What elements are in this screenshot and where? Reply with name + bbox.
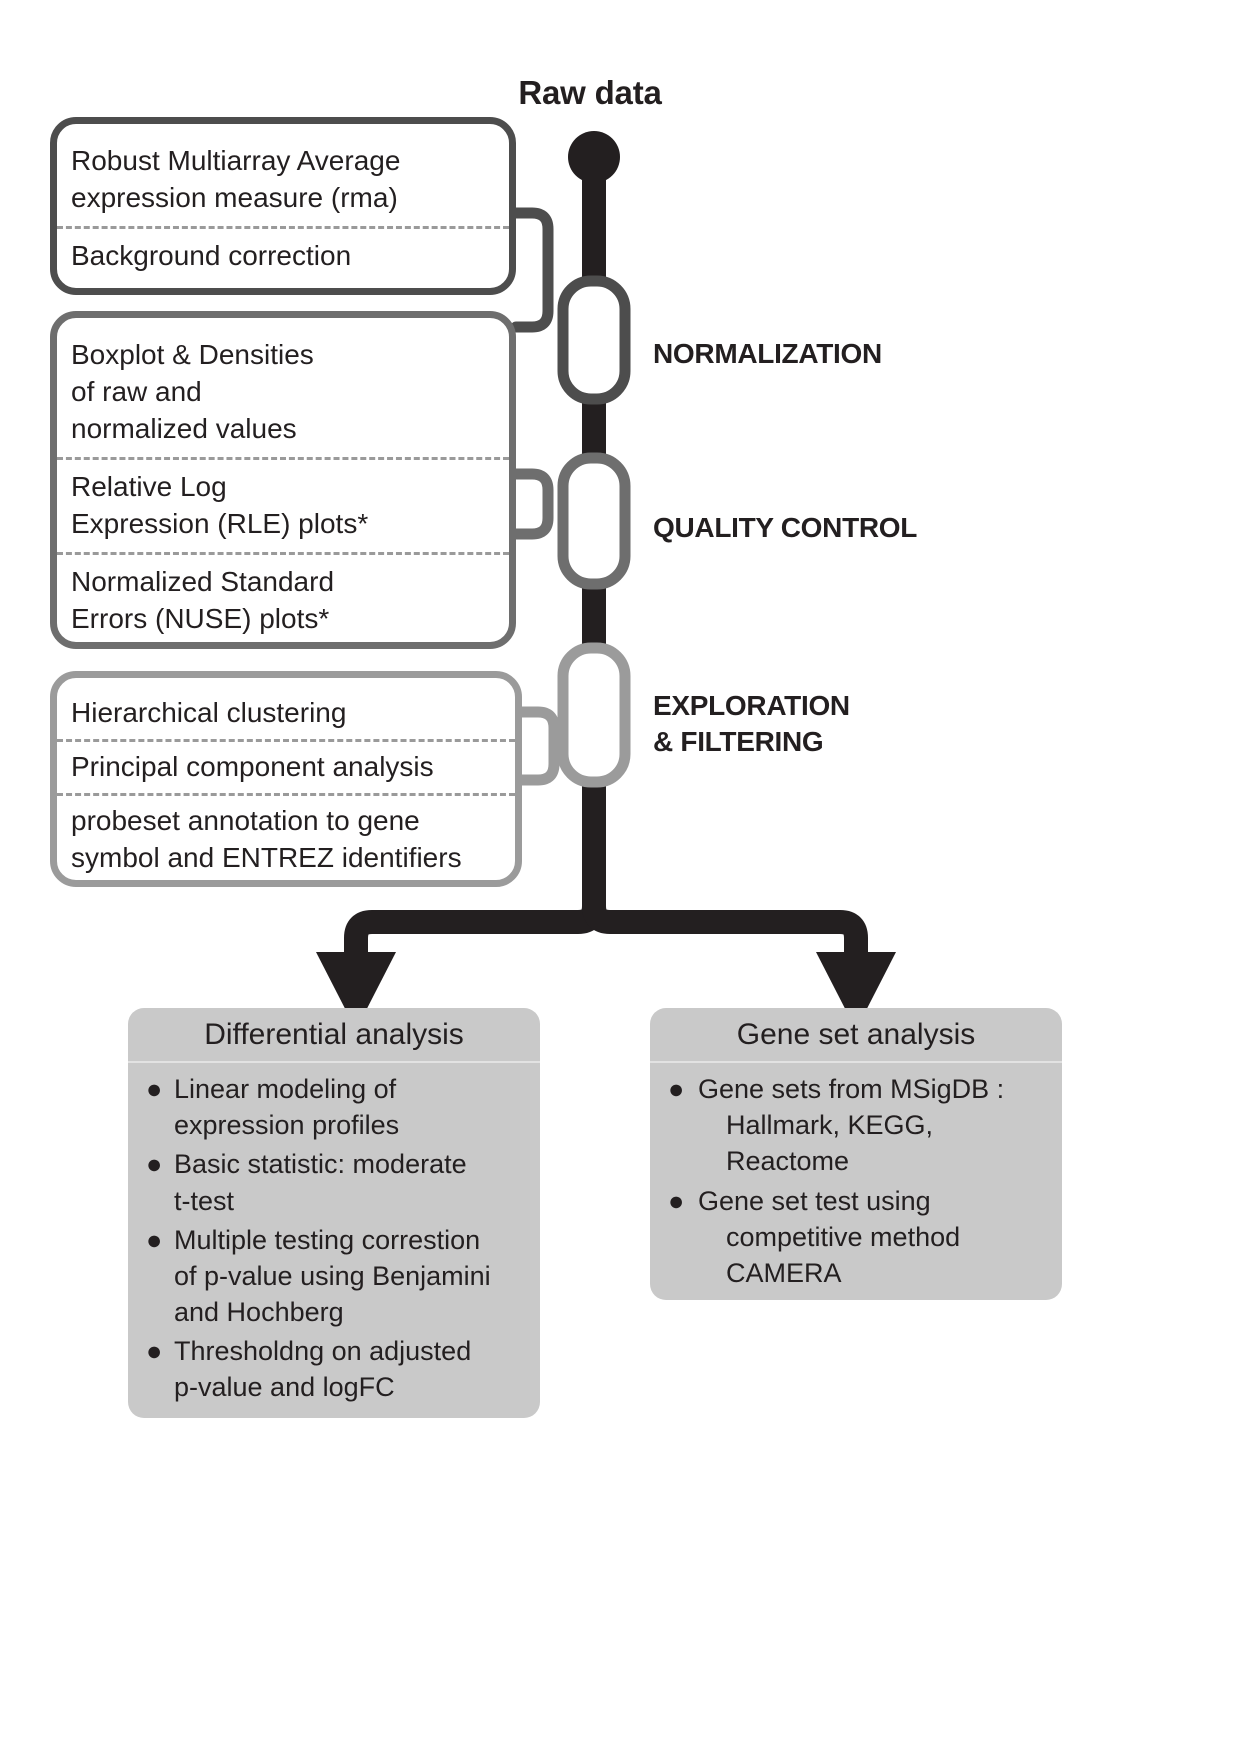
spine-segment-2 [582,580,606,652]
spine-segment-3 [582,778,606,896]
result-panel-gene-set-analysis: Gene set analysis ●Gene sets from MSigDB… [650,1008,1062,1300]
stage-capsule-normalization [563,281,625,399]
stage-label-exploration-filtering: EXPLORATION & FILTERING [653,688,850,760]
branch-left-line [356,880,594,962]
list-item: ●Multiple testing correstion of p-value … [144,1222,528,1331]
panel-title: Gene set analysis [650,1008,1062,1063]
detail-item: Hierarchical clustering [57,688,515,739]
stage-label-normalization: NORMALIZATION [653,336,882,372]
branch-right-line [594,880,856,962]
list-item-label: Thresholdng on adjusted p-value and logF… [174,1336,471,1402]
detail-item: Background correction [57,226,509,284]
list-item-continuation: competitive method [698,1219,1050,1255]
detail-item: Normalized Standard Errors (NUSE) plots* [57,552,509,647]
bullet-icon: ● [146,1071,162,1107]
list-item: ●Thresholdng on adjusted p-value and log… [144,1333,528,1405]
detail-item: Boxplot & Densities of raw and normalize… [57,328,509,457]
detail-box-quality-control: Boxplot & Densities of raw and normalize… [50,311,516,649]
list-item-label: Basic statistic: moderate t-test [174,1149,467,1215]
page-title: Raw data [430,74,750,112]
list-item: ●Linear modeling of expression profiles [144,1071,528,1143]
list-item-label: Gene set test using [698,1186,931,1216]
detail-item: Robust Multiarray Average expression mea… [57,134,509,226]
stage-capsule-quality [563,458,625,584]
list-item-label: Gene sets from MSigDB : [698,1074,1004,1104]
bullet-icon: ● [668,1071,684,1107]
connector-quality [516,474,548,534]
connector-normalization [516,213,548,327]
spine-segment-top [582,155,606,295]
panel-bullet-list: ●Linear modeling of expression profiles … [128,1063,540,1419]
detail-item: Relative Log Expression (RLE) plots* [57,457,509,552]
result-panel-differential-analysis: Differential analysis ●Linear modeling o… [128,1008,540,1418]
raw-data-node [568,131,620,183]
list-item-label: Linear modeling of expression profiles [174,1074,399,1140]
bullet-icon: ● [668,1183,684,1219]
list-item: ●Gene set test usingcompetitive methodCA… [666,1183,1050,1292]
detail-box-exploration-filtering: Hierarchical clustering Principal compon… [50,671,522,887]
list-item: ●Basic statistic: moderate t-test [144,1146,528,1218]
stage-capsule-exploration [563,648,625,782]
list-item-continuation: Hallmark, KEGG, [698,1107,1050,1143]
stage-label-quality-control: QUALITY CONTROL [653,510,917,546]
panel-bullet-list: ●Gene sets from MSigDB :Hallmark, KEGG,R… [650,1063,1062,1304]
connector-exploration [522,712,554,780]
detail-item: Principal component analysis [57,739,515,793]
spine-segment-1 [582,396,606,468]
panel-title: Differential analysis [128,1008,540,1063]
list-item-continuation: Reactome [698,1143,1050,1179]
list-item-continuation: CAMERA [698,1255,1050,1291]
bullet-icon: ● [146,1333,162,1369]
list-item-label: Multiple testing correstion of p-value u… [174,1225,491,1327]
bullet-icon: ● [146,1222,162,1258]
detail-item: probeset annotation to gene symbol and E… [57,793,515,884]
bullet-icon: ● [146,1146,162,1182]
detail-box-normalization: Robust Multiarray Average expression mea… [50,117,516,295]
list-item: ●Gene sets from MSigDB :Hallmark, KEGG,R… [666,1071,1050,1180]
